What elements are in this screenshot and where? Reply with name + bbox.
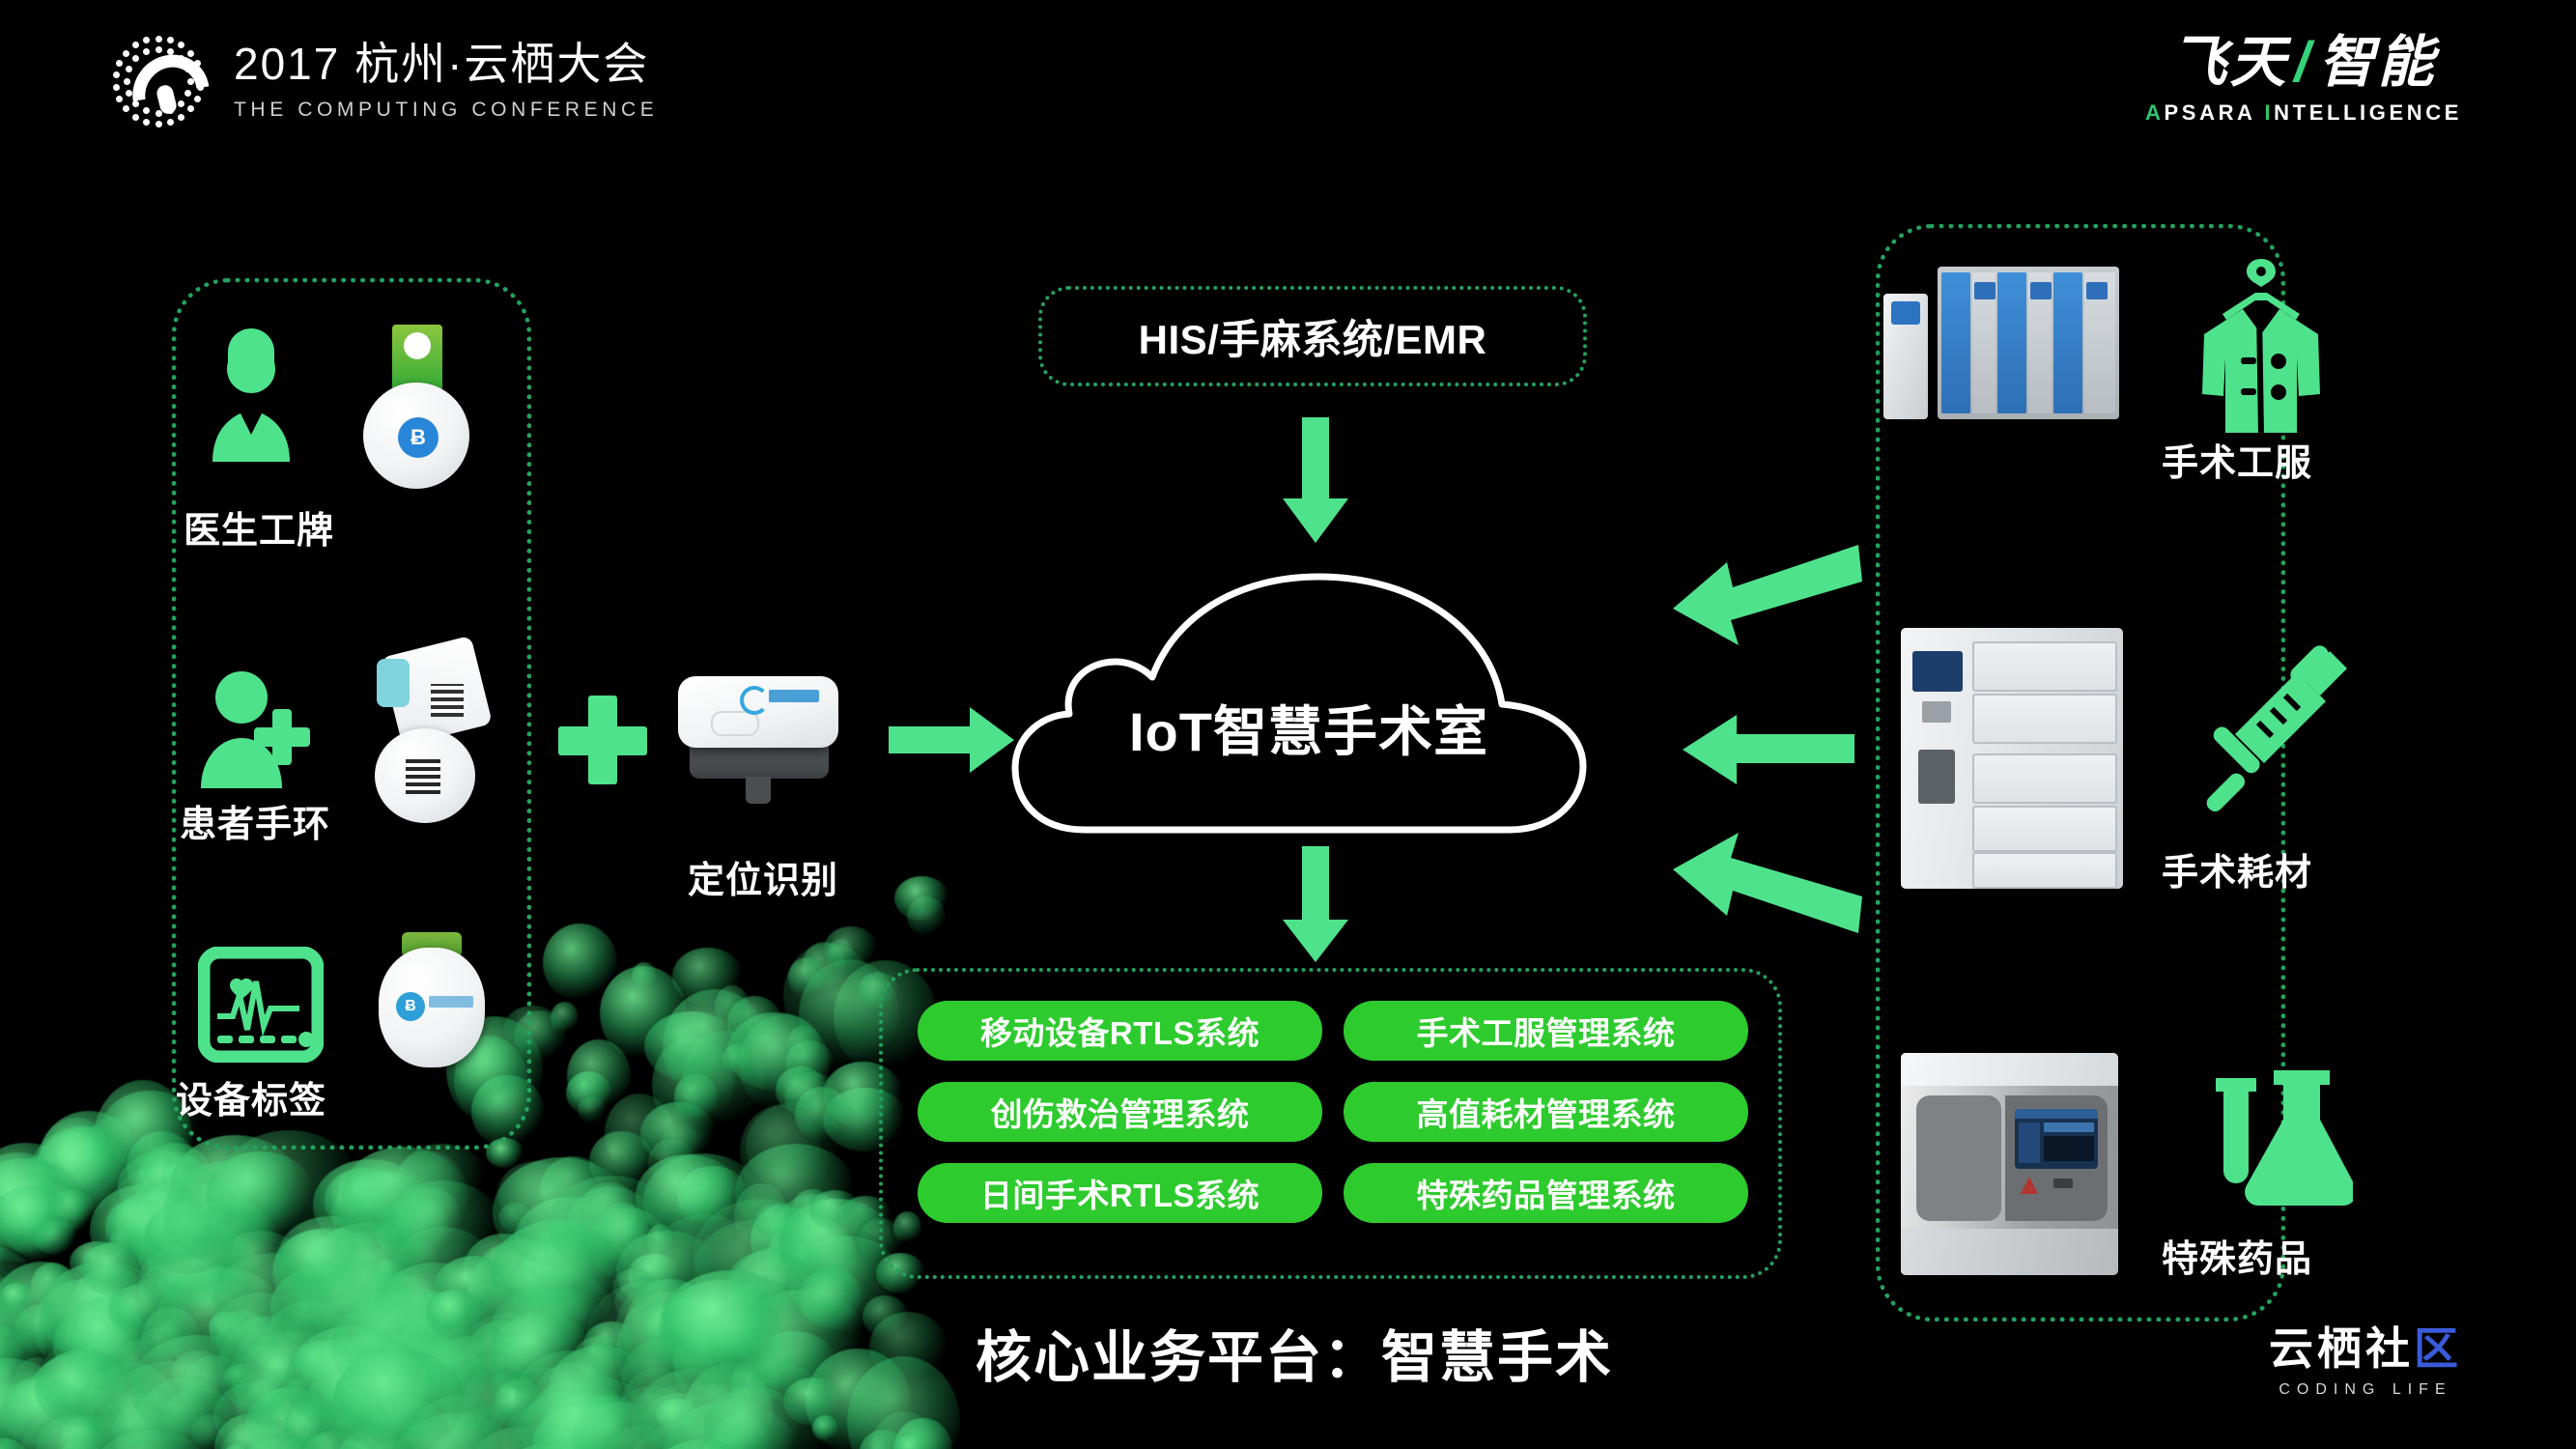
apsara-cn-title: 飞天/智能 [2145, 35, 2462, 91]
left-item-label-0: 医生工牌 [184, 500, 334, 554]
right-item-label-0: 手术工服 [2162, 433, 2312, 486]
system-pill-3[interactable]: 高值耗材管理系统 [1344, 1082, 1748, 1142]
apsara-en-i: I [2264, 100, 2274, 125]
doctor-icon [193, 319, 309, 464]
yunqi-cn-b: 区 [2414, 1323, 2462, 1374]
conference-title: 2017 杭州·云栖大会 [234, 41, 658, 87]
gateway-label: 定位识别 [688, 850, 838, 903]
systems-pill-grid: 移动设备RTLS系统 手术工服管理系统 创伤救治管理系统 高值耗材管理系统 日间… [918, 1001, 1748, 1223]
syringe-icon [2185, 645, 2354, 814]
right-item-label-1: 手术耗材 [2162, 842, 2312, 895]
apsara-cn-2: 智能 [2319, 31, 2437, 94]
yunqi-cn-a: 云栖社 [2269, 1323, 2414, 1374]
apsara-en-psara: PSARA [2165, 100, 2265, 125]
computing-conference-mark-icon [108, 31, 209, 131]
system-pill-5[interactable]: 特殊药品管理系统 [1344, 1163, 1748, 1223]
system-pill-0[interactable]: 移动设备RTLS系统 [918, 1001, 1322, 1061]
conference-logo: 2017 杭州·云栖大会 THE COMPUTING CONFERENCE [108, 31, 658, 131]
smart-locker-photo [1883, 251, 2173, 444]
wristband-tag-photo [367, 645, 483, 829]
drug-dispenser-photo [1901, 1053, 2118, 1275]
arrow-down-his-to-cloud-icon [1279, 417, 1352, 543]
gateway-device-photo [676, 668, 850, 813]
yunqi-community-logo: 云栖社区 CODING LIFE [2269, 1326, 2462, 1399]
yunqi-en: CODING LIFE [2269, 1381, 2462, 1399]
apsara-slash-icon: / [2288, 31, 2318, 94]
system-pill-1[interactable]: 手术工服管理系统 [1344, 1001, 1748, 1061]
apsara-cn-1: 飞天 [2170, 31, 2288, 94]
conference-subtitle: THE COMPUTING CONFERENCE [234, 99, 658, 122]
gown-icon [2189, 251, 2334, 444]
arrow-down-cloud-to-systems-icon [1279, 846, 1352, 962]
left-item-label-1: 患者手环 [180, 794, 330, 847]
cloud-label: IoT智慧手术室 [1000, 689, 1618, 767]
apsara-en-rest: NTELLIGENCE [2274, 100, 2462, 125]
supply-cabinet-photo [1901, 628, 2123, 889]
right-item-label-2: 特殊药品 [2162, 1229, 2312, 1282]
patient-icon [193, 667, 319, 792]
system-pill-4[interactable]: 日间手术RTLS系统 [918, 1163, 1322, 1223]
apsara-intelligence-logo: 飞天/智能 APSARA INTELLIGENCE [2145, 35, 2462, 126]
slide-canvas: 2017 杭州·云栖大会 THE COMPUTING CONFERENCE 飞天… [0, 0, 2576, 1449]
apsara-en-a: A [2145, 100, 2165, 125]
left-item-label-2: 设备标签 [176, 1070, 326, 1123]
arrow-left-lower-icon [1669, 833, 1862, 939]
his-system-label: HIS/手麻系统/EMR [1038, 286, 1587, 386]
arrow-left-middle-icon [1681, 713, 1854, 786]
apsara-en-title: APSARA INTELLIGENCE [2145, 100, 2462, 126]
flask-icon [2198, 1061, 2353, 1215]
monitor-icon [198, 947, 324, 1063]
arrow-left-upper-icon [1669, 539, 1862, 645]
badge-tag-photo: Ƀ [359, 325, 473, 498]
system-pill-2[interactable]: 创伤救治管理系统 [918, 1082, 1322, 1142]
plus-icon [558, 696, 647, 784]
asset-tag-photo: Ƀ [375, 932, 489, 1087]
yunqi-cn: 云栖社区 [2269, 1326, 2462, 1371]
page-title: 核心业务平台：智慧手术 [976, 1312, 1613, 1393]
arrow-right-to-cloud-icon [889, 703, 1014, 777]
